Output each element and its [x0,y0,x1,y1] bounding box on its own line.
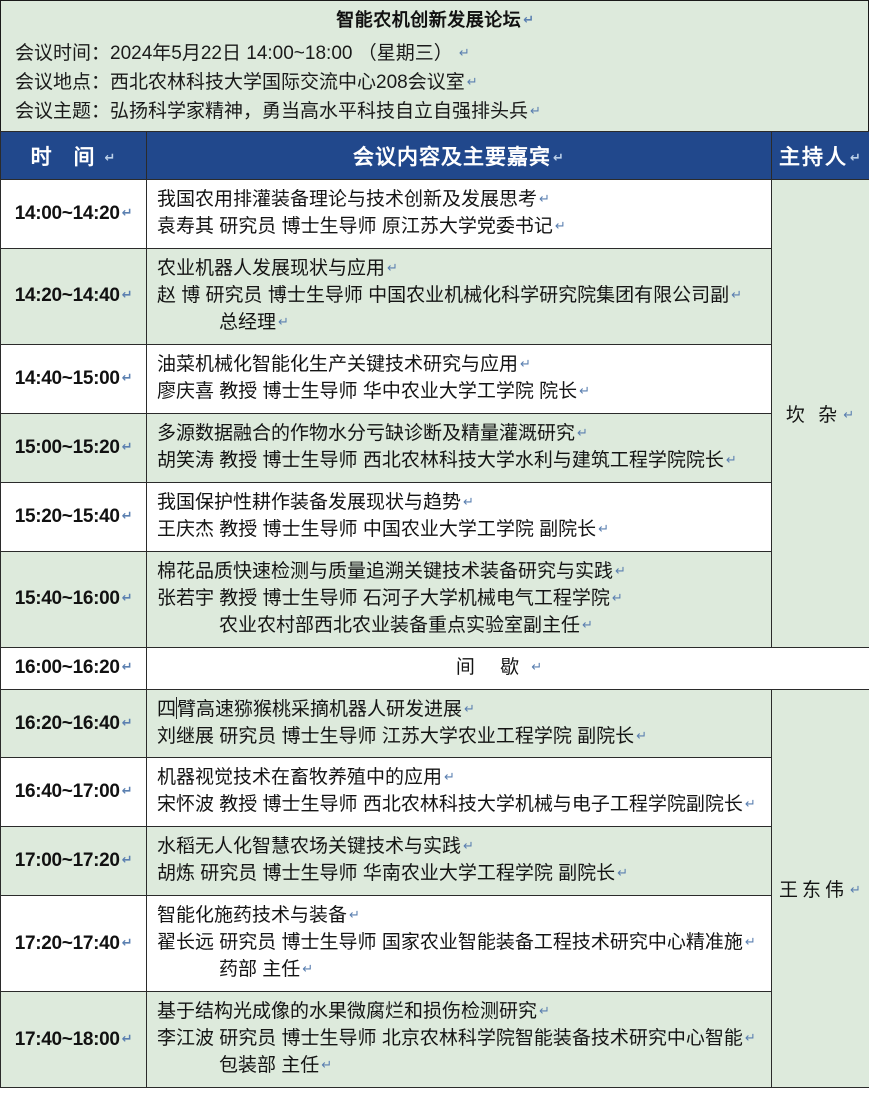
pilcrow-mark: ↵ [613,564,626,579]
table-header-row: 时 间↵ 会议内容及主要嘉宾↵ 主持人↵ [1,132,869,180]
session-title: 我国农用排灌装备理论与技术创新及发展思考↵ [157,187,763,214]
speaker-info: 包装部 主任↵ [157,1053,763,1080]
cell-content: 农业机器人发展现状与应用↵赵 博 研究员 博士生导师 中国农业机械化科学研究院集… [147,248,772,344]
cell-content: 基于结构光成像的水果微腐烂和损伤检测研究↵李江波 研究员 博士生导师 北京农林科… [147,992,772,1088]
cell-content: 水稻无人化智慧农场关键技术与实践↵胡炼 研究员 博士生导师 华南农业大学工程学院… [147,827,772,896]
speaker-info: 张若宇 教授 博士生导师 石河子大学机械电气工程学院↵ [157,586,763,613]
meeting-time-label: 会议时间： [15,43,110,64]
cell-time: 17:20~17:40↵ [1,896,147,992]
pilcrow-mark: ↵ [610,591,623,606]
pilcrow-mark: ↵ [461,495,474,510]
speaker-info: 翟长远 研究员 博士生导师 国家农业智能装备工程技术研究中心精准施↵ [157,930,763,957]
pilcrow-mark: ↵ [120,440,133,455]
cell-content: 油菜机械化智能化生产关键技术研究与应用↵廖庆喜 教授 博士生导师 华中农业大学工… [147,344,772,413]
column-header-content: 会议内容及主要嘉宾↵ [147,132,772,180]
column-header-content-label: 会议内容及主要嘉宾 [353,146,551,169]
pilcrow-mark: ↵ [848,151,863,166]
session-title: 基于结构光成像的水果微腐烂和损伤检测研究↵ [157,999,763,1026]
column-header-host: 主持人↵ [772,132,869,180]
cell-content: 机器视觉技术在畜牧养殖中的应用↵宋怀波 教授 博士生导师 西北农林科技大学机械与… [147,758,772,827]
pilcrow-mark: ↵ [580,618,593,633]
speaker-info: 袁寿其 研究员 博士生导师 原江苏大学党委书记↵ [157,214,763,241]
host-name: 王东伟 [779,880,848,901]
cell-time: 14:20~14:40↵ [1,248,147,344]
cell-time: 17:00~17:20↵ [1,827,147,896]
time-value: 16:00~16:20 [15,657,120,678]
pilcrow-mark: ↵ [453,46,470,61]
pilcrow-mark: ↵ [300,962,313,977]
meeting-location-value: 西北农林科技大学国际交流中心208会议室 [110,72,465,93]
pilcrow-mark: ↵ [596,522,609,537]
agenda-table-head: 时 间↵ 会议内容及主要嘉宾↵ 主持人↵ [1,132,869,180]
cell-time: 17:40~18:00↵ [1,992,147,1088]
table-row: 17:40~18:00↵基于结构光成像的水果微腐烂和损伤检测研究↵李江波 研究员… [1,992,869,1088]
pilcrow-mark: ↵ [537,192,550,207]
session-title: 棉花品质快速检测与质量追溯关键技术装备研究与实践↵ [157,559,763,586]
table-row: 14:20~14:40↵农业机器人发展现状与应用↵赵 博 研究员 博士生导师 中… [1,248,869,344]
pilcrow-mark: ↵ [518,357,531,372]
pilcrow-mark: ↵ [120,784,133,799]
time-value: 17:40~18:00 [15,1029,120,1050]
pilcrow-mark: ↵ [465,75,478,90]
cell-content: 棉花品质快速检测与质量追溯关键技术装备研究与实践↵张若宇 教授 博士生导师 石河… [147,551,772,647]
pilcrow-mark: ↵ [319,1058,332,1073]
pilcrow-mark: ↵ [120,206,133,221]
page-title: 智能农机创新发展论坛↵ [15,10,856,32]
pilcrow-mark: ↵ [553,219,566,234]
cell-content: 四臂高速猕猴桃采摘机器人研发进展↵刘继展 研究员 博士生导师 江苏大学农业工程学… [147,689,772,758]
pilcrow-mark: ↵ [575,426,588,441]
table-row: 15:00~15:20↵多源数据融合的作物水分亏缺诊断及精量灌溉研究↵胡笑涛 教… [1,413,869,482]
table-row: 16:20~16:40↵四臂高速猕猴桃采摘机器人研发进展↵刘继展 研究员 博士生… [1,689,869,758]
agenda-table: 时 间↵ 会议内容及主要嘉宾↵ 主持人↵ 14:00~14:20↵我国农用排灌装… [0,131,869,1088]
pilcrow-mark: ↵ [120,509,133,524]
pilcrow-mark: ↵ [120,288,133,303]
pilcrow-mark: ↵ [743,797,756,812]
time-value: 14:40~15:00 [15,368,120,389]
meeting-location-label: 会议地点： [15,72,110,93]
cell-time: 14:40~15:00↵ [1,344,147,413]
cell-time: 15:20~15:40↵ [1,482,147,551]
pilcrow-mark: ↵ [848,883,865,898]
pilcrow-mark: ↵ [385,261,398,276]
pilcrow-mark: ↵ [461,839,474,854]
cell-host: 王东伟↵ [772,689,869,1088]
pilcrow-mark: ↵ [529,660,552,675]
meeting-title-text: 智能农机创新发展论坛 [336,10,521,30]
pilcrow-mark: ↵ [537,1004,550,1019]
pilcrow-mark: ↵ [551,151,565,166]
table-row: 15:40~16:00↵棉花品质快速检测与质量追溯关键技术装备研究与实践↵张若宇… [1,551,869,647]
speaker-info: 药部 主任↵ [157,957,763,984]
session-title: 多源数据融合的作物水分亏缺诊断及精量灌溉研究↵ [157,421,763,448]
cell-time: 16:40~17:00↵ [1,758,147,827]
pilcrow-mark: ↵ [120,936,133,951]
cell-time: 16:20~16:40↵ [1,689,147,758]
pilcrow-mark: ↵ [120,660,133,675]
speaker-info: 农业农村部西北农业装备重点实验室副主任↵ [157,613,763,640]
speaker-info: 胡炼 研究员 博士生导师 华南农业大学工程学院 副院长↵ [157,861,763,888]
pilcrow-mark: ↵ [528,104,541,119]
meeting-header: 智能农机创新发展论坛↵ 会议时间：2024年5月22日 14:00~18:00 … [0,0,869,131]
cell-content: 间 歇↵ [147,647,869,689]
speaker-info: 总经理↵ [157,310,763,337]
pilcrow-mark: ↵ [102,151,123,166]
pilcrow-mark: ↵ [841,408,858,423]
session-title: 农业机器人发展现状与应用↵ [157,256,763,283]
speaker-info: 廖庆喜 教授 博士生导师 华中农业大学工学院 院长↵ [157,379,763,406]
pilcrow-mark: ↵ [120,853,133,868]
column-header-time-label: 时 间 [31,146,103,169]
pilcrow-mark: ↵ [276,315,289,330]
cell-content: 我国农用排灌装备理论与技术创新及发展思考↵袁寿其 研究员 博士生导师 原江苏大学… [147,180,772,249]
meeting-theme-line: 会议主题：弘扬科学家精神，勇当高水平科技自立自强排头兵↵ [15,97,856,126]
pilcrow-mark: ↵ [743,935,756,950]
cell-host: 坎 杂↵ [772,180,869,648]
table-row: 16:40~17:00↵机器视觉技术在畜牧养殖中的应用↵宋怀波 教授 博士生导师… [1,758,869,827]
pilcrow-mark: ↵ [120,371,133,386]
speaker-info: 王庆杰 教授 博士生导师 中国农业大学工学院 副院长↵ [157,517,763,544]
pilcrow-mark: ↵ [615,866,628,881]
speaker-info: 宋怀波 教授 博士生导师 西北农林科技大学机械与电子工程学院副院长↵ [157,792,763,819]
cell-content: 我国保护性耕作装备发展现状与趋势↵王庆杰 教授 博士生导师 中国农业大学工学院 … [147,482,772,551]
time-value: 16:40~17:00 [15,781,120,802]
time-value: 17:20~17:40 [15,933,120,954]
session-title: 机器视觉技术在畜牧养殖中的应用↵ [157,765,763,792]
host-name: 坎 杂 [786,405,841,426]
meeting-theme-label: 会议主题： [15,101,110,122]
cell-content: 多源数据融合的作物水分亏缺诊断及精量灌溉研究↵胡笑涛 教授 博士生导师 西北农林… [147,413,772,482]
time-value: 15:00~15:20 [15,437,120,458]
time-value: 16:20~16:40 [15,713,120,734]
table-row: 17:20~17:40↵智能化施药技术与装备↵翟长远 研究员 博士生导师 国家农… [1,896,869,992]
table-row: 15:20~15:40↵我国保护性耕作装备发展现状与趋势↵王庆杰 教授 博士生导… [1,482,869,551]
speaker-info: 刘继展 研究员 博士生导师 江苏大学农业工程学院 副院长↵ [157,724,763,751]
speaker-info: 李江波 研究员 博士生导师 北京农林科学院智能装备技术研究中心智能↵ [157,1026,763,1053]
session-title: 油菜机械化智能化生产关键技术研究与应用↵ [157,352,763,379]
cell-time: 15:00~15:20↵ [1,413,147,482]
pilcrow-mark: ↵ [347,908,360,923]
table-row: 14:40~15:00↵油菜机械化智能化生产关键技术研究与应用↵廖庆喜 教授 博… [1,344,869,413]
pilcrow-mark: ↵ [120,591,133,606]
meeting-time-line: 会议时间：2024年5月22日 14:00~18:00 （星期三） ↵ [15,39,856,68]
table-row: 17:00~17:20↵水稻无人化智慧农场关键技术与实践↵胡炼 研究员 博士生导… [1,827,869,896]
meeting-theme-value: 弘扬科学家精神，勇当高水平科技自立自强排头兵 [110,101,528,122]
time-value: 14:00~14:20 [15,203,120,224]
agenda-table-body: 14:00~14:20↵我国农用排灌装备理论与技术创新及发展思考↵袁寿其 研究员… [1,180,869,1088]
session-title: 水稻无人化智慧农场关键技术与实践↵ [157,834,763,861]
cell-time: 14:00~14:20↵ [1,180,147,249]
cell-time: 16:00~16:20↵ [1,647,147,689]
column-header-host-label: 主持人 [779,146,848,169]
time-value: 15:40~16:00 [15,588,120,609]
pilcrow-mark: ↵ [724,453,737,468]
speaker-info: 胡笑涛 教授 博士生导师 西北农林科技大学水利与建筑工程学院院长↵ [157,448,763,475]
cell-time: 15:40~16:00↵ [1,551,147,647]
pilcrow-mark: ↵ [577,384,590,399]
table-row: 14:00~14:20↵我国农用排灌装备理论与技术创新及发展思考↵袁寿其 研究员… [1,180,869,249]
pilcrow-mark: ↵ [120,716,133,731]
column-header-time: 时 间↵ [1,132,147,180]
table-row: 16:00~16:20↵间 歇↵ [1,647,869,689]
pilcrow-mark: ↵ [521,13,534,28]
session-title: 我国保护性耕作装备发展现状与趋势↵ [157,490,763,517]
cell-content: 智能化施药技术与装备↵翟长远 研究员 博士生导师 国家农业智能装备工程技术研究中… [147,896,772,992]
pilcrow-mark: ↵ [462,702,475,717]
time-value: 17:00~17:20 [15,850,120,871]
time-value: 15:20~15:40 [15,506,120,527]
session-title: 智能化施药技术与装备↵ [157,903,763,930]
meeting-time-value: 2024年5月22日 14:00~18:00 （星期三） [110,43,453,64]
session-title: 四臂高速猕猴桃采摘机器人研发进展↵ [157,697,763,724]
break-label: 间 歇 [456,657,529,678]
pilcrow-mark: ↵ [634,729,647,744]
pilcrow-mark: ↵ [442,770,455,785]
meeting-location-line: 会议地点：西北农林科技大学国际交流中心208会议室↵ [15,68,856,97]
pilcrow-mark: ↵ [120,1032,133,1047]
time-value: 14:20~14:40 [15,285,120,306]
pilcrow-mark: ↵ [743,1031,756,1046]
document-page: 智能农机创新发展论坛↵ 会议时间：2024年5月22日 14:00~18:00 … [0,0,869,1097]
speaker-info: 赵 博 研究员 博士生导师 中国农业机械化科学研究院集团有限公司副↵ [157,283,763,310]
pilcrow-mark: ↵ [729,288,742,303]
